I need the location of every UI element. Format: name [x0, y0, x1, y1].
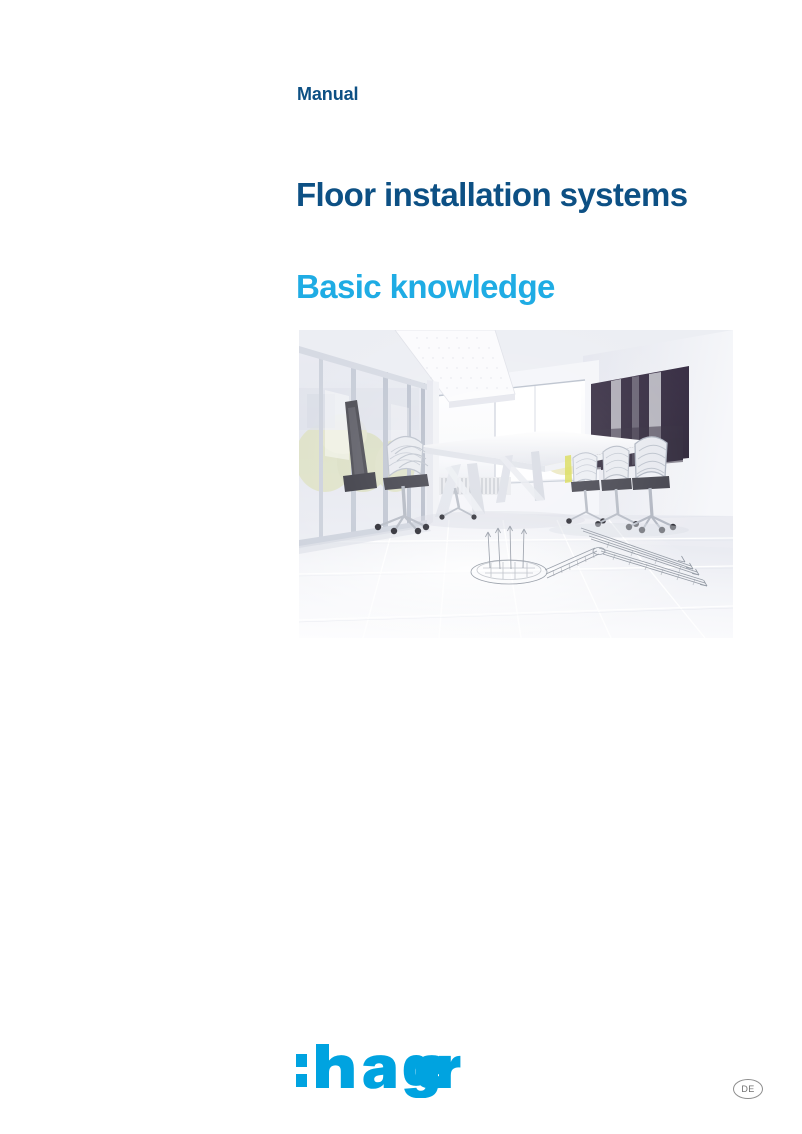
office-interior-illustration	[299, 330, 733, 638]
hager-logo	[294, 1040, 464, 1098]
cover-page: Manual Floor installation systems Basic …	[0, 0, 802, 1134]
language-badge: DE	[733, 1079, 763, 1099]
document-kicker: Manual	[297, 84, 358, 106]
page-title: Floor installation systems	[296, 176, 688, 214]
cover-hero-image	[299, 330, 733, 638]
hager-wordmark	[294, 1040, 464, 1098]
page-subtitle: Basic knowledge	[296, 268, 555, 306]
